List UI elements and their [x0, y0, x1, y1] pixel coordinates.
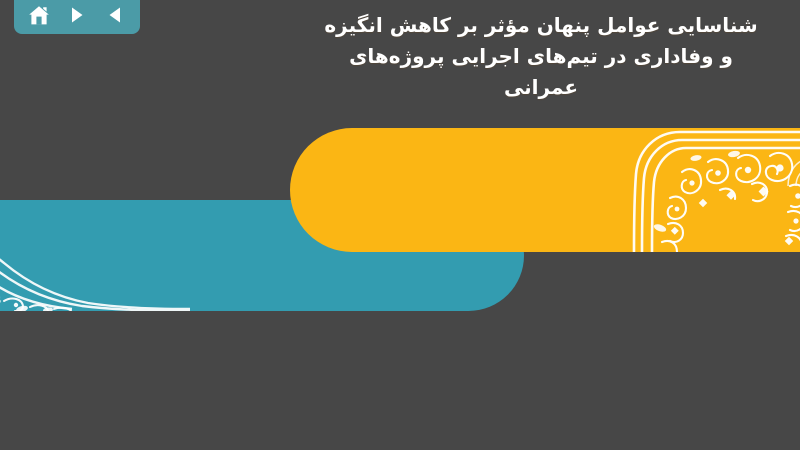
navigation-bar: [14, 0, 140, 34]
home-icon: [28, 5, 50, 26]
presentation-slide: شناسایی عوامل پنهان مؤثر بر کاهش انگیزه …: [0, 0, 800, 450]
home-button[interactable]: [24, 2, 54, 28]
slide-title-line-2: و وفاداری در تیم‌های اجرایی پروژه‌های: [306, 41, 776, 72]
forward-button[interactable]: [62, 2, 92, 28]
triangle-right-icon: [67, 5, 87, 25]
triangle-left-icon: [105, 5, 125, 25]
slide-title-line-3: عمرانی: [306, 72, 776, 103]
back-button[interactable]: [100, 2, 130, 28]
teal-band-arabesque-ornament: [0, 211, 190, 311]
slide-title: شناسایی عوامل پنهان مؤثر بر کاهش انگیزه …: [306, 10, 776, 103]
yellow-title-band: [290, 128, 800, 252]
slide-title-line-1: شناسایی عوامل پنهان مؤثر بر کاهش انگیزه: [306, 10, 776, 41]
yellow-band-arabesque-ornament: [620, 128, 800, 252]
